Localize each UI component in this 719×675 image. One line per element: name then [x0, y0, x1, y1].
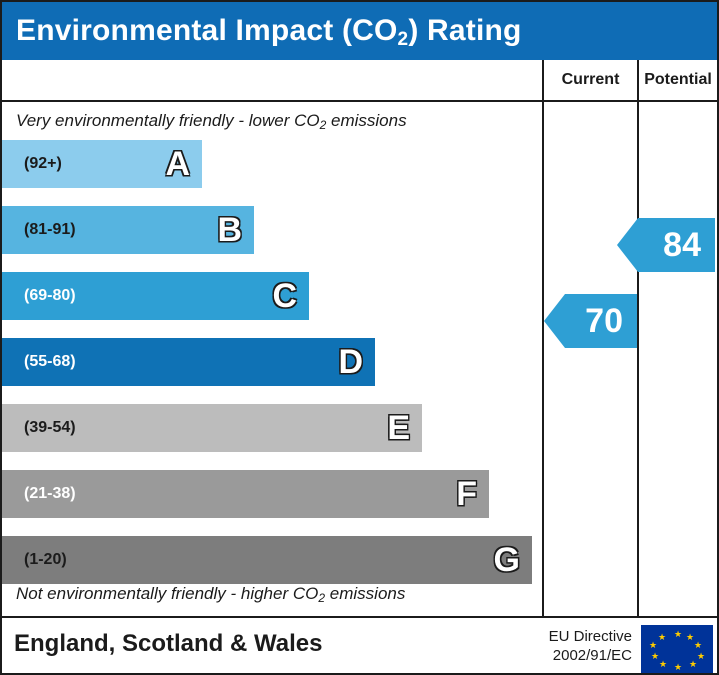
caption-bottom-prefix: Not environmentally friendly - higher CO	[16, 584, 318, 603]
rating-band-g-letter: G	[494, 543, 520, 577]
rating-band-e-letter: E	[387, 411, 410, 445]
rating-band-b-letter: B	[217, 213, 242, 247]
potential-rating-value: 84	[663, 226, 701, 265]
rating-band-a-range: (92+)	[24, 155, 62, 173]
column-header-potential: Potential	[637, 60, 717, 100]
caption-bottom: Not environmentally friendly - higher CO…	[16, 584, 405, 604]
page-title-subscript: 2	[398, 29, 409, 50]
rating-band-e-range: (39-54)	[24, 419, 76, 437]
rating-band-b-range: (81-91)	[24, 221, 76, 239]
rating-band-d-letter: D	[338, 345, 363, 379]
rating-band-f-letter: F	[456, 477, 477, 511]
page-title-prefix: Environmental Impact (CO	[16, 14, 398, 47]
rating-band-a-letter: A	[165, 147, 190, 181]
rating-band-c-letter: C	[272, 279, 297, 313]
current-rating-marker: 70	[565, 294, 637, 348]
chart-footer: England, Scotland & Wales EU Directive 2…	[2, 616, 717, 673]
page-title-suffix: ) Rating	[408, 14, 521, 47]
eu-directive-line1: EU Directive	[527, 627, 632, 646]
epc-environmental-impact-chart: Environmental Impact (CO2) Rating Curren…	[0, 0, 719, 675]
caption-top-suffix: emissions	[326, 111, 406, 130]
rating-band-d-range: (55-68)	[24, 353, 76, 371]
rating-band-b: (81-91) B	[2, 206, 254, 254]
page-title: Environmental Impact (CO2) Rating	[16, 14, 522, 48]
column-divider-potential	[637, 102, 639, 616]
rating-bands-area: Very environmentally friendly - lower CO…	[2, 102, 542, 616]
rating-band-a: (92+) A	[2, 140, 202, 188]
rating-band-d: (55-68) D	[2, 338, 375, 386]
eu-directive-label: EU Directive 2002/91/EC	[527, 627, 632, 665]
eu-directive-line2: 2002/91/EC	[527, 646, 632, 665]
footer-region-label: England, Scotland & Wales	[14, 630, 322, 658]
current-rating-value: 70	[585, 302, 623, 341]
rating-band-f: (21-38) F	[2, 470, 489, 518]
potential-rating-marker: 84	[638, 218, 715, 272]
caption-top: Very environmentally friendly - lower CO…	[16, 111, 407, 131]
rating-band-c-range: (69-80)	[24, 287, 76, 305]
caption-bottom-suffix: emissions	[325, 584, 405, 603]
column-header-current: Current	[542, 60, 637, 100]
rating-band-c: (69-80) C	[2, 272, 309, 320]
column-divider-current	[542, 102, 544, 616]
current-marker-arrow-icon	[544, 294, 565, 348]
eu-flag-icon: ★ ★ ★ ★ ★ ★ ★ ★ ★ ★	[641, 625, 713, 673]
rating-band-g-range: (1-20)	[24, 551, 67, 569]
rating-band-g: (1-20) G	[2, 536, 532, 584]
caption-top-prefix: Very environmentally friendly - lower CO	[16, 111, 320, 130]
chart-title-bar: Environmental Impact (CO2) Rating	[2, 2, 717, 60]
rating-band-e: (39-54) E	[2, 404, 422, 452]
caption-bottom-subscript: 2	[318, 591, 325, 605]
potential-marker-arrow-icon	[617, 218, 638, 272]
column-header-row: Current Potential	[2, 60, 717, 102]
caption-top-subscript: 2	[320, 118, 327, 132]
rating-band-f-range: (21-38)	[24, 485, 76, 503]
